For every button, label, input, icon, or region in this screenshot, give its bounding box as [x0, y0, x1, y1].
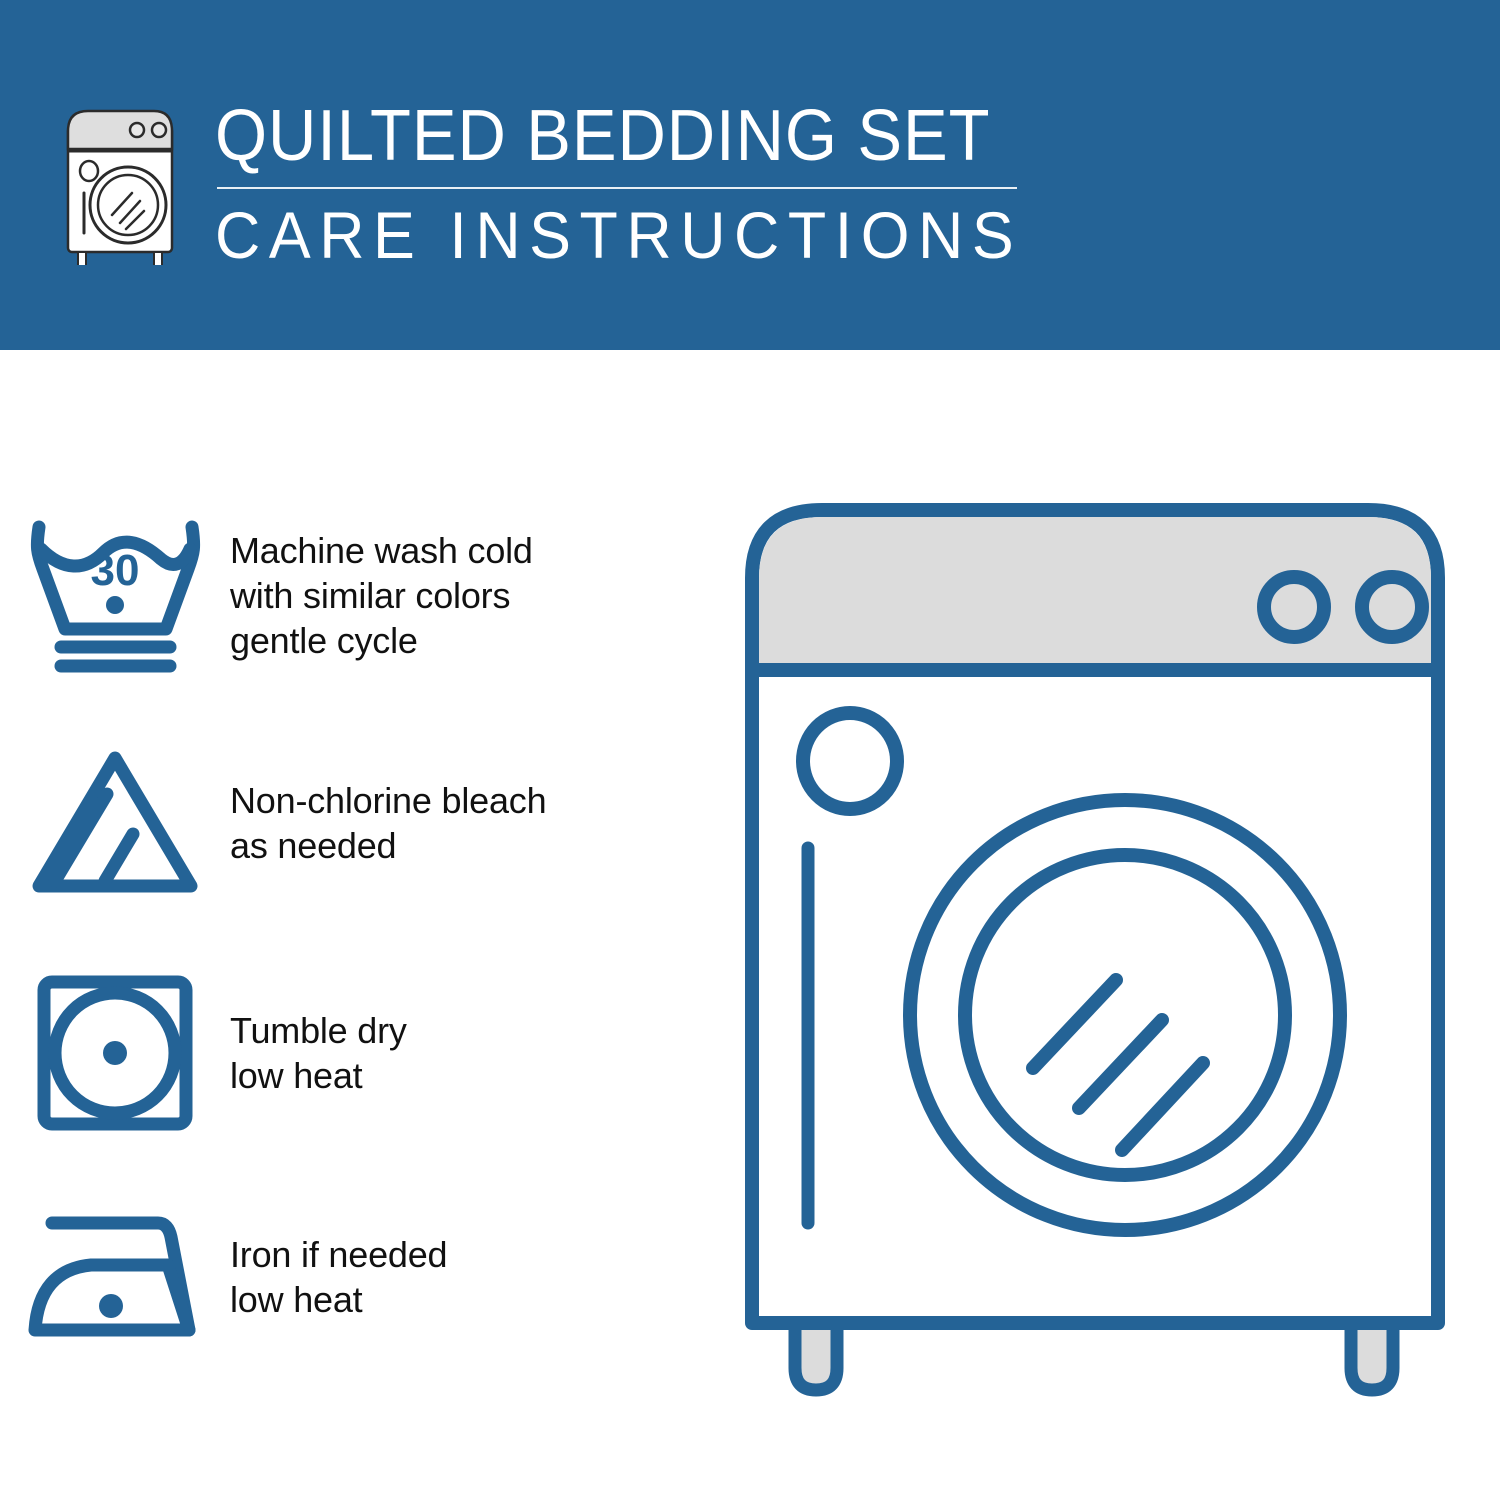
non-chlorine-bleach-icon	[0, 748, 230, 898]
dry-heat-dot-icon	[103, 1041, 127, 1065]
list-item-label: Tumble dry low heat	[230, 1008, 720, 1098]
list-item: Tumble dry low heat	[0, 958, 720, 1148]
list-item: Iron if needed low heat	[0, 1182, 720, 1372]
wash-temperature-label: 30	[90, 546, 139, 595]
detergent-knob	[803, 713, 897, 809]
list-item-label: Iron if needed low heat	[230, 1232, 720, 1322]
care-instructions-page: QUILTED BEDDING SET CARE INSTRUCTIONS 30	[0, 0, 1500, 1500]
iron-heat-dot-icon	[99, 1294, 123, 1318]
control-panel	[759, 517, 1431, 668]
drum-door-inner	[965, 855, 1285, 1175]
list-item-label: Non-chlorine bleach as needed	[230, 778, 720, 868]
page-subtitle: CARE INSTRUCTIONS	[215, 197, 1004, 273]
washing-machine-icon	[62, 105, 187, 265]
wash-dot-icon	[106, 596, 124, 614]
front-load-washing-machine-illustration	[740, 490, 1450, 1410]
machine-wash-30-gentle-icon: 30	[0, 513, 230, 678]
list-item: 30 Machine wash cold with similar colors…	[0, 495, 720, 695]
iron-low-heat-icon	[0, 1210, 230, 1345]
page-title: QUILTED BEDDING SET	[215, 95, 987, 177]
tumble-dry-low-icon	[0, 973, 230, 1133]
dial-left	[1264, 577, 1324, 637]
dial-right	[1362, 577, 1422, 637]
list-item: Non-chlorine bleach as needed	[0, 728, 720, 918]
list-item-label: Machine wash cold with similar colors ge…	[230, 528, 720, 663]
header-text-block: QUILTED BEDDING SET CARE INSTRUCTIONS	[215, 95, 1045, 273]
header-banner: QUILTED BEDDING SET CARE INSTRUCTIONS	[0, 0, 1500, 350]
instructions-list: 30 Machine wash cold with similar colors…	[0, 350, 720, 1500]
title-divider	[217, 187, 1017, 189]
